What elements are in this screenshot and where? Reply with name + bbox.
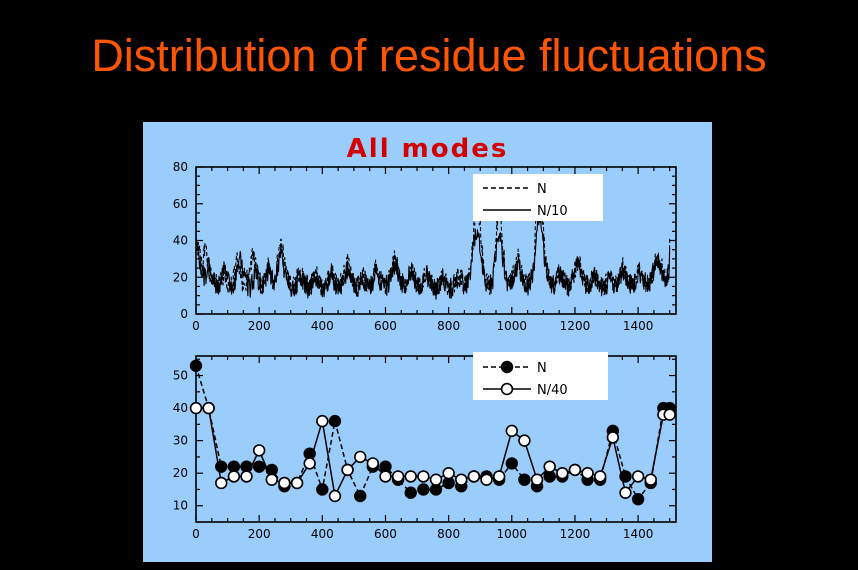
data-point	[317, 484, 328, 495]
data-point	[645, 474, 656, 485]
x-tick-label: 800	[437, 319, 460, 333]
y-tick-label: 60	[173, 197, 188, 211]
data-point	[443, 468, 454, 479]
x-tick-label: 200	[248, 319, 271, 333]
data-point	[241, 471, 252, 482]
data-point	[664, 409, 675, 420]
data-point	[405, 471, 416, 482]
data-point	[342, 465, 353, 476]
x-tick-label: 1000	[497, 319, 528, 333]
data-point	[468, 471, 479, 482]
y-tick-label: 20	[173, 466, 188, 480]
data-point	[355, 491, 366, 502]
data-point	[418, 471, 429, 482]
legend-label: N/10	[537, 204, 568, 219]
data-point	[595, 471, 606, 482]
data-point	[456, 474, 467, 485]
data-point	[544, 461, 555, 472]
figure-panel: All modes 020040060080010001200140002040…	[143, 122, 712, 562]
chart-legend: NN/10	[473, 174, 603, 221]
data-point	[355, 452, 366, 463]
data-point	[367, 458, 378, 469]
y-tick-label: 20	[173, 270, 188, 284]
page-title: Distribution of residue fluctuations	[0, 30, 858, 82]
legend-marker	[502, 362, 513, 373]
data-point	[203, 403, 214, 414]
data-point	[405, 487, 416, 498]
y-tick-label: 80	[173, 160, 188, 174]
data-point	[330, 491, 341, 502]
x-tick-label: 0	[192, 319, 200, 333]
data-point	[330, 416, 341, 427]
data-point	[393, 471, 404, 482]
x-tick-label: 0	[192, 527, 200, 541]
data-point	[254, 461, 265, 472]
data-point	[191, 360, 202, 371]
slide-canvas: Distribution of residue fluctuations All…	[0, 0, 858, 570]
data-point	[481, 474, 492, 485]
x-tick-label: 600	[374, 319, 397, 333]
chart-bottom-svg: 02004006008001000120014001020304050NN/40	[143, 342, 712, 562]
data-point	[431, 474, 442, 485]
y-tick-label: 50	[173, 369, 188, 383]
data-point	[633, 494, 644, 505]
y-tick-label: 40	[173, 234, 188, 248]
chart-legend: NN/40	[473, 352, 608, 400]
x-tick-label: 1200	[560, 319, 591, 333]
data-point	[380, 471, 391, 482]
data-point	[620, 487, 631, 498]
data-point	[494, 471, 505, 482]
data-point	[418, 484, 429, 495]
x-tick-label: 1400	[623, 319, 654, 333]
data-point	[506, 458, 517, 469]
data-point	[506, 425, 517, 436]
data-point	[191, 403, 202, 414]
x-tick-label: 200	[248, 527, 271, 541]
x-tick-label: 400	[311, 527, 334, 541]
legend-label: N/40	[537, 383, 568, 398]
x-tick-label: 1200	[560, 527, 591, 541]
x-tick-label: 1400	[623, 527, 654, 541]
y-tick-label: 10	[173, 499, 188, 513]
data-point	[317, 416, 328, 427]
data-point	[254, 445, 265, 456]
series-line-N-10	[196, 216, 670, 299]
x-tick-label: 400	[311, 319, 334, 333]
y-tick-label: 30	[173, 434, 188, 448]
x-tick-label: 800	[437, 527, 460, 541]
data-point	[266, 474, 277, 485]
chart-top: 0200400600800100012001400020406080NN/10	[143, 152, 712, 342]
data-point	[228, 471, 239, 482]
data-point	[633, 471, 644, 482]
y-tick-label: 40	[173, 401, 188, 415]
legend-marker	[502, 384, 513, 395]
legend-label: N	[537, 182, 547, 197]
chart-bottom: 02004006008001000120014001020304050NN/40	[143, 342, 712, 562]
legend-label: N	[537, 361, 547, 376]
data-point	[519, 435, 530, 446]
data-point	[532, 474, 543, 485]
x-tick-label: 1000	[497, 527, 528, 541]
x-tick-label: 600	[374, 527, 397, 541]
data-point	[216, 478, 227, 489]
data-point	[607, 432, 618, 443]
data-point	[519, 474, 530, 485]
data-point	[557, 468, 568, 479]
chart-top-svg: 0200400600800100012001400020406080NN/10	[143, 152, 712, 342]
data-point	[292, 478, 303, 489]
y-tick-label: 0	[180, 307, 188, 321]
data-point	[304, 458, 315, 469]
data-point	[279, 478, 290, 489]
data-point	[570, 465, 581, 476]
data-point	[582, 468, 593, 479]
